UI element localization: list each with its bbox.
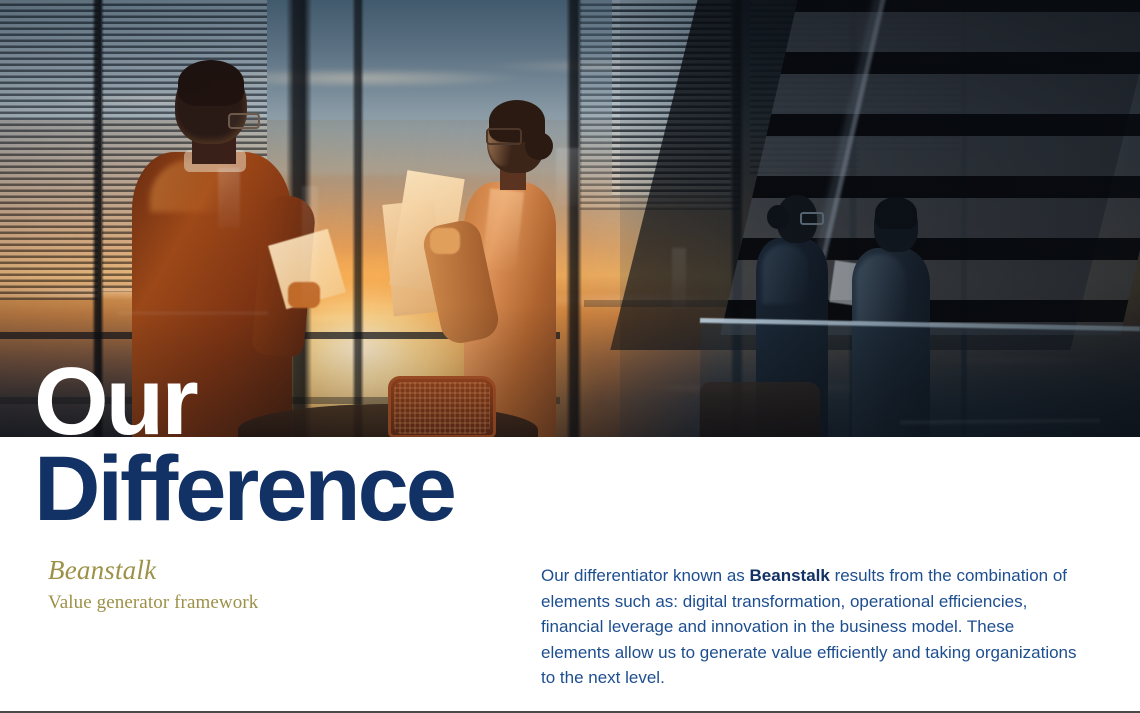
body-text-before: Our differentiator known as [541, 566, 750, 585]
glass-reflection-4 [672, 248, 686, 308]
figure-man-hair [178, 60, 244, 106]
figure-woman-hair-bun [525, 132, 553, 160]
body-text-highlight: Beanstalk [750, 566, 830, 585]
window-mullion-3 [352, 0, 364, 437]
figure-colleague-2-hair [875, 197, 917, 229]
window-mullion-4 [566, 0, 582, 437]
brand-block: Beanstalk Value generator framework [48, 554, 448, 616]
figure-woman-glasses [486, 128, 522, 145]
glass-reflection-6 [118, 312, 268, 315]
page-title-line-1: Our [34, 354, 196, 450]
figure-colleague-1-hair-bun [767, 205, 789, 229]
figure-colleague-1-highlight [762, 244, 808, 304]
figure-colleague-1-glasses [800, 212, 824, 225]
figure-colleague-2-highlight [856, 254, 906, 324]
brand-name: Beanstalk [48, 554, 448, 586]
office-chair-right [700, 382, 820, 437]
brand-tagline: Value generator framework [48, 590, 448, 616]
figure-man-glasses [228, 113, 260, 129]
glass-reflection-2 [556, 148, 580, 206]
body-paragraph: Our differentiator known as Beanstalk re… [541, 563, 1081, 691]
page-title-line-2: Difference [34, 441, 454, 537]
figure-woman-hand [430, 228, 460, 254]
slide-our-difference: Our Difference Beanstalk Value generator… [0, 0, 1140, 713]
glass-reflection-3 [302, 186, 318, 306]
office-chair-mesh [394, 382, 490, 434]
glass-reflection-1 [218, 168, 240, 228]
